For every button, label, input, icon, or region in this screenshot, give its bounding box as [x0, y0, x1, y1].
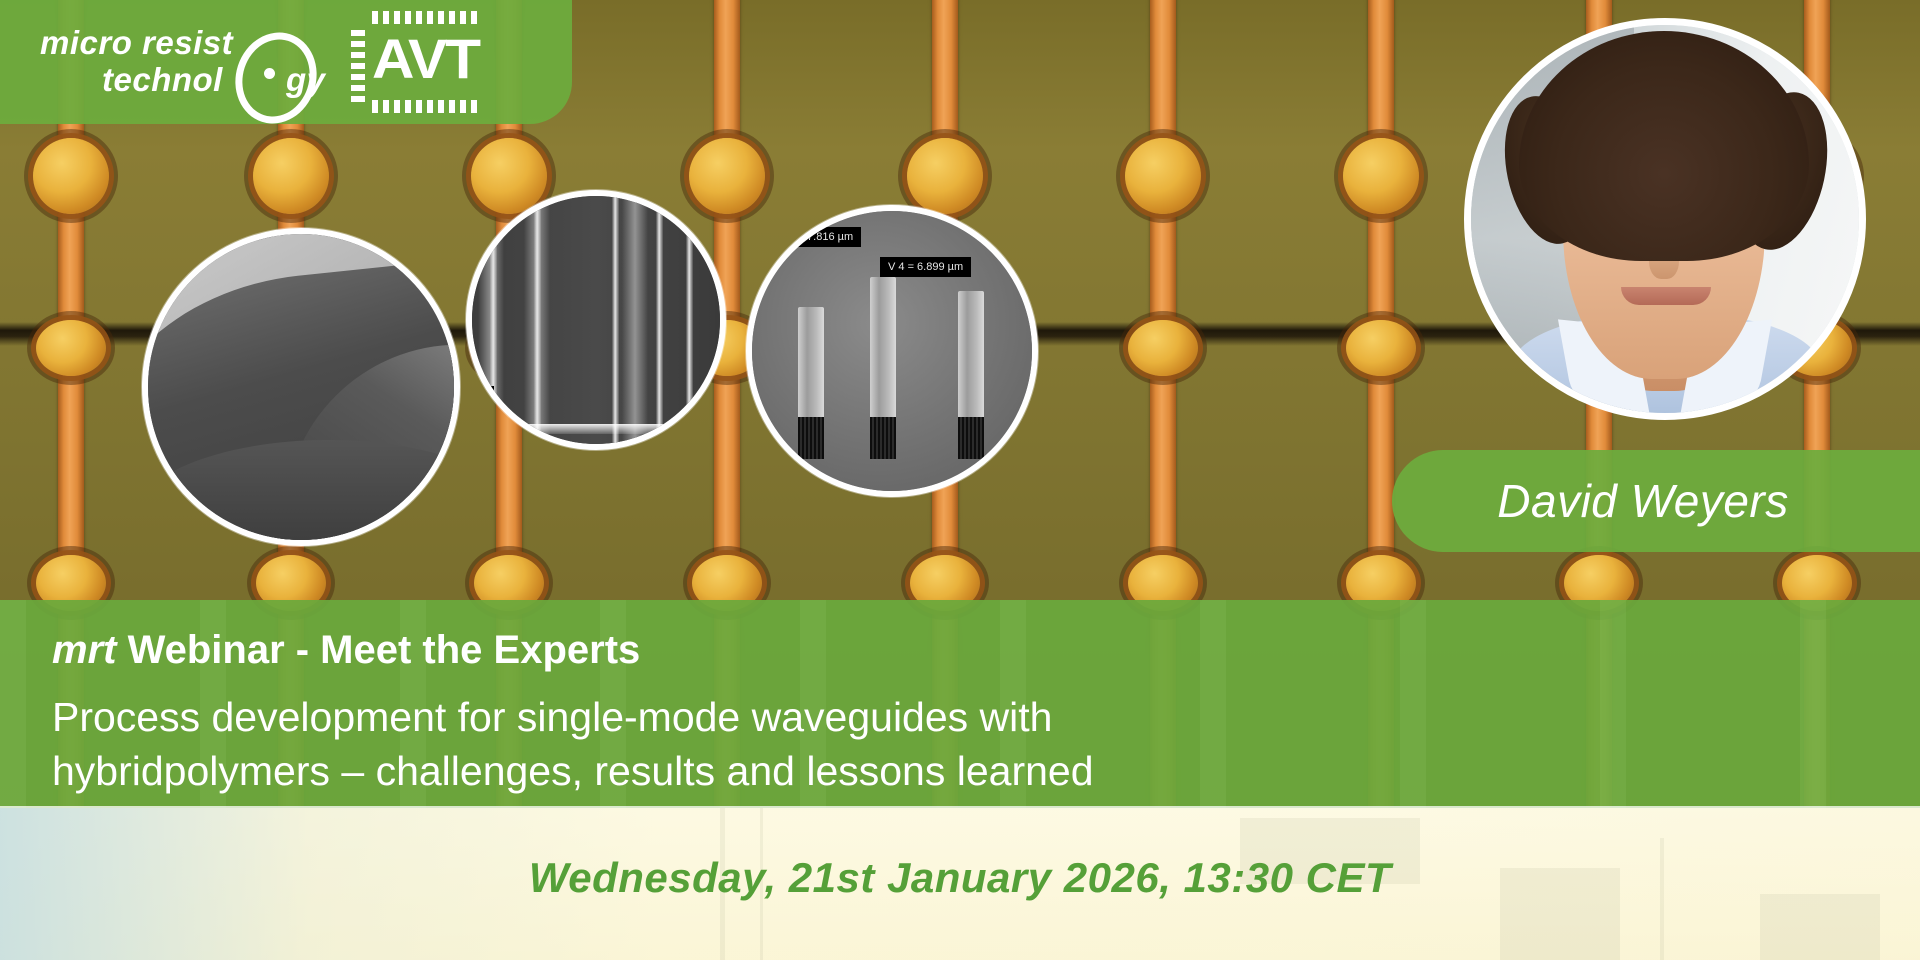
sem-image-waveguide-scurve	[142, 228, 460, 546]
mrt-logo-line2: technol	[102, 61, 223, 99]
mrt-dot-icon	[264, 68, 275, 79]
kicker-rest: Webinar - Meet the Experts	[116, 628, 640, 672]
sem-pillar-root	[958, 417, 984, 459]
sem-sidewall	[534, 190, 541, 450]
webinar-subtitle-line2: hybridpolymers – challenges, results and…	[52, 744, 1920, 798]
speaker-portrait-avatar	[1464, 18, 1866, 420]
lab-detail	[1760, 894, 1880, 960]
avt-logo: AVT	[348, 8, 474, 116]
webinar-kicker: mrt Webinar - Meet the Experts	[52, 626, 1920, 674]
brand-logo-block: micro resist technol gy AVT	[0, 0, 572, 124]
avt-logo-text: AVT	[372, 26, 479, 92]
mrt-logo-line1: micro resist	[40, 24, 233, 62]
kicker-mrt-italic: mrt	[52, 628, 116, 672]
copper-pad	[1128, 320, 1198, 376]
avt-dash-row-bottom	[372, 100, 477, 113]
sem-measurement-label-2: V 4 = 6.899 µm	[880, 257, 971, 277]
portrait-mouth	[1621, 287, 1711, 305]
sem-pillar-root	[870, 417, 896, 459]
copper-pad	[36, 320, 106, 376]
copper-pad	[907, 138, 983, 214]
sem-sidewall	[612, 190, 619, 450]
sem-measurement-label-1: V 3 = 7.816 µm	[770, 227, 861, 247]
copper-pad	[1346, 320, 1416, 376]
sem-substrate-floor	[466, 424, 726, 434]
copper-pad	[253, 138, 329, 214]
sem-scale-marker	[478, 386, 494, 406]
micro-resist-technology-logo: micro resist technol gy	[40, 16, 320, 108]
copper-pad	[33, 138, 109, 214]
sem-image-waveguide-pillars: V 3 = 7.816 µm V 4 = 6.899 µm	[746, 205, 1038, 497]
avt-dash-row-top	[372, 11, 477, 24]
speaker-name-badge: David Weyers	[1392, 450, 1920, 552]
footer-strip: Wednesday, 21st January 2026, 13:30 CET	[0, 808, 1920, 960]
sem-field	[472, 196, 720, 444]
webinar-banner: micro resist technol gy AVT	[0, 0, 1920, 960]
sem-sidewall	[686, 190, 693, 450]
sem-pillar	[798, 307, 824, 425]
sem-sidewall-glow	[622, 190, 648, 450]
sem-sidewall	[490, 190, 497, 450]
webinar-date-label: Wednesday, 21st January 2026, 13:30 CET	[0, 854, 1920, 902]
speaker-name-label: David Weyers	[1497, 474, 1788, 528]
sem-image-waveguide-trenches	[466, 190, 726, 450]
title-bar: mrt Webinar - Meet the Experts Process d…	[0, 600, 1920, 808]
sem-sidewall	[656, 190, 663, 450]
sem-pillar	[870, 277, 896, 427]
sem-pillar	[958, 291, 984, 427]
avt-dash-col-left	[351, 30, 365, 102]
webinar-subtitle-line1: Process development for single-mode wave…	[52, 690, 1920, 744]
sem-pillar-root	[798, 417, 824, 459]
copper-pad	[1343, 138, 1419, 214]
copper-pad	[1125, 138, 1201, 214]
mrt-logo-line2-tail: gy	[286, 61, 326, 99]
